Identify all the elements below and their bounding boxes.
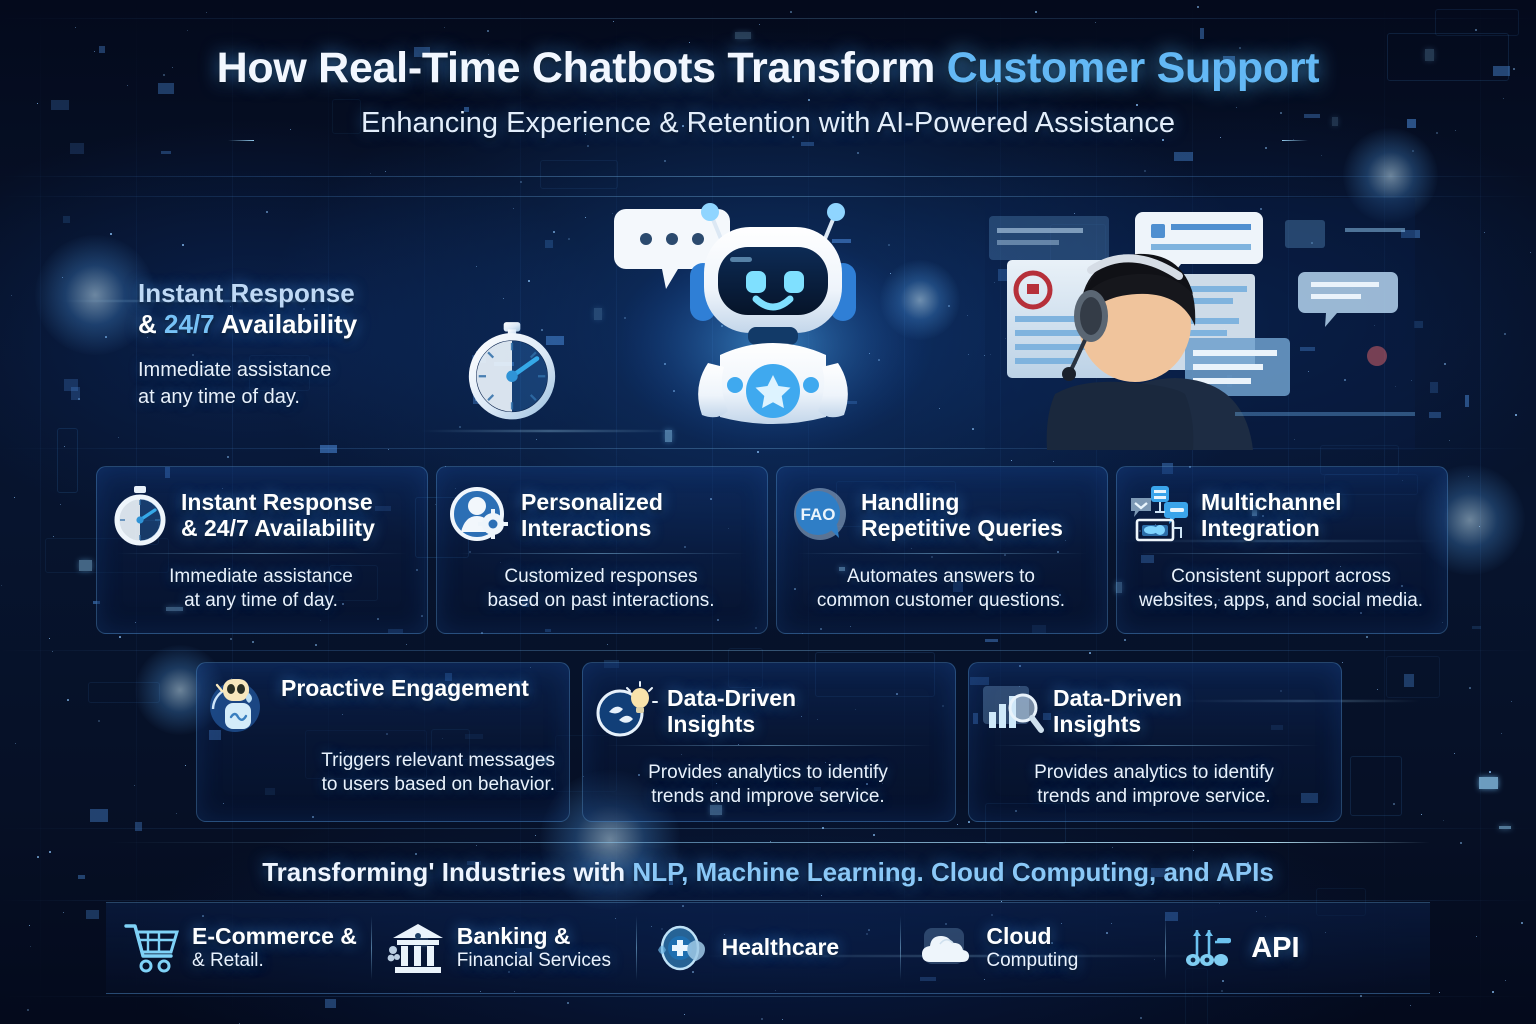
card-header: FAO Handling Repetitive Queries: [789, 479, 1093, 551]
card-title-line1: Proactive Engagement: [281, 675, 529, 701]
card-title: Instant Response & 24/7 Availability: [181, 489, 375, 542]
card-header: Personalized Interactions: [449, 479, 753, 551]
industry-label: API: [1251, 932, 1299, 964]
chatbot-robot-mascot: [608, 195, 938, 450]
hero-title-line1: Instant Response: [138, 278, 355, 308]
card-title: Data-Driven Insights: [667, 685, 796, 738]
card-title-line2: Insights: [1053, 711, 1141, 737]
industry-item-cloud[interactable]: Cloud Computing: [900, 903, 1165, 993]
industry-label-line1: Banking &: [457, 923, 571, 949]
card-header: Data-Driven Insights: [595, 675, 941, 747]
title-main: How Real-Time Chatbots Transform: [217, 44, 947, 92]
card-desc-line2: to users based on behavior.: [322, 774, 555, 795]
card-desc-line1: Immediate assistance: [169, 566, 353, 587]
header: How Real-Time Chatbots Transform Custome…: [0, 44, 1536, 140]
healthcare-shield-icon: [654, 920, 712, 976]
card-header: Instant Response & 24/7 Availability: [109, 479, 413, 551]
card-title: Proactive Engagement: [281, 675, 529, 701]
card-title-line2: Repetitive Queries: [861, 515, 1063, 541]
stopwatch-icon: [109, 484, 171, 546]
card-header: Data-Driven Insights: [981, 675, 1327, 747]
multichannel-devices-icon: [1129, 484, 1191, 546]
hero-description: Immediate assistance at any time of day.: [138, 357, 438, 410]
faq-bubble-icon: FAO: [789, 484, 851, 546]
chart-magnifier-icon: [981, 680, 1043, 742]
hero-title-number: 24/7: [164, 309, 215, 339]
feature-card-proactive-engagement[interactable]: Proactive Engagement Triggers relevant m…: [196, 662, 570, 822]
banner-text: Transforming' Industries with NLP, Machi…: [262, 857, 1274, 888]
card-title: Multichannel Integration: [1201, 489, 1342, 542]
card-title-line2: Integration: [1201, 515, 1320, 541]
faq-badge-text: FAO: [801, 505, 836, 524]
hero-highlight: Instant Response & 24/7 Availability Imm…: [138, 278, 438, 410]
card-desc-line1: Customized responses: [504, 566, 697, 587]
feature-row-1: Instant Response & 24/7 Availability Imm…: [96, 466, 1448, 634]
industry-label: Cloud Computing: [986, 924, 1078, 971]
card-desc-line2: trends and improve service.: [1037, 786, 1270, 807]
industry-item-healthcare[interactable]: Healthcare: [636, 903, 901, 993]
api-nodes-icon: [1183, 920, 1241, 976]
user-gear-icon: [449, 484, 511, 546]
industries-strip: E-Commerce & & Retail.: [106, 902, 1430, 994]
card-title-line1: Handling: [861, 489, 959, 515]
industry-label: Banking & Financial Services: [457, 924, 611, 971]
stopwatch-icon: [460, 318, 564, 422]
card-description: Immediate assistance at any time of day.: [109, 565, 413, 614]
cloud-icon: [918, 920, 976, 976]
card-desc-line2: based on past interactions.: [487, 590, 714, 611]
subtitle-tick-right: [1282, 140, 1308, 141]
industry-label-line1: E-Commerce &: [192, 923, 357, 949]
feature-card-personalized-interactions[interactable]: Personalized Interactions Customized res…: [436, 466, 768, 634]
infographic-canvas: How Real-Time Chatbots Transform Custome…: [0, 0, 1536, 1024]
bank-building-icon: [389, 920, 447, 976]
industry-item-banking[interactable]: Banking & Financial Services: [371, 903, 636, 993]
feature-card-multichannel-integration[interactable]: Multichannel Integration Consistent supp…: [1116, 466, 1448, 634]
card-desc-line1: Provides analytics to identify: [1034, 762, 1274, 783]
feature-card-instant-response[interactable]: Instant Response & 24/7 Availability Imm…: [96, 466, 428, 634]
card-desc-line1: Automates answers to: [847, 566, 1035, 587]
card-desc-line2: websites, apps, and social media.: [1139, 590, 1423, 611]
feature-card-data-driven-insights-1[interactable]: Data-Driven Insights Provides analytics …: [582, 662, 956, 822]
card-description: Provides analytics to identify trends an…: [595, 761, 941, 810]
card-description: Consistent support across websites, apps…: [1129, 565, 1433, 614]
industry-label: Healthcare: [722, 935, 840, 961]
industry-label-line2: Financial Services: [457, 950, 611, 971]
support-agent-workstation: [985, 198, 1415, 450]
card-description: Automates answers to common customer que…: [789, 565, 1093, 614]
card-title-line2: & 24/7 Availability: [181, 515, 375, 541]
feature-row-2: Proactive Engagement Triggers relevant m…: [196, 662, 1342, 822]
page-title: How Real-Time Chatbots Transform Custome…: [0, 44, 1536, 93]
feature-card-data-driven-insights-2[interactable]: Data-Driven Insights Provides analytics …: [968, 662, 1342, 822]
card-desc-line1: Triggers relevant messages: [321, 750, 555, 771]
industry-label-line2: Computing: [986, 950, 1078, 971]
card-title: Data-Driven Insights: [1053, 685, 1182, 738]
card-description: Triggers relevant messages to users base…: [209, 749, 555, 798]
card-desc-line2: at any time of day.: [184, 590, 338, 611]
industry-item-ecommerce[interactable]: E-Commerce & & Retail.: [106, 903, 371, 993]
industry-item-api[interactable]: API: [1165, 903, 1430, 993]
lightbulb-insight-icon: [595, 680, 657, 742]
card-title-line1: Data-Driven: [1053, 685, 1182, 711]
card-title-line1: Data-Driven: [667, 685, 796, 711]
card-description: Provides analytics to identify trends an…: [981, 761, 1327, 810]
hero-title-line2-pre: &: [138, 309, 164, 339]
subtitle-tick-left: [228, 140, 254, 141]
card-title-line2: Insights: [667, 711, 755, 737]
banner-prefix: Transforming' Industries with: [262, 857, 632, 887]
feature-card-repetitive-queries[interactable]: FAO Handling Repetitive Queries Automate…: [776, 466, 1108, 634]
card-title: Personalized Interactions: [521, 489, 663, 542]
shopping-cart-icon: [124, 920, 182, 976]
hero-desc-line2: at any time of day.: [138, 386, 300, 408]
card-header: Multichannel Integration: [1129, 479, 1433, 551]
technologies-banner: Transforming' Industries with NLP, Machi…: [0, 848, 1536, 896]
hero-title-line2-post: Availability: [215, 309, 358, 339]
card-title-line1: Multichannel: [1201, 489, 1342, 515]
card-desc-line2: common customer questions.: [817, 590, 1065, 611]
card-title-line1: Instant Response: [181, 489, 373, 515]
card-desc-line1: Consistent support across: [1171, 566, 1391, 587]
title-accent: Customer Support: [947, 44, 1320, 92]
card-desc-line2: trends and improve service.: [651, 786, 884, 807]
proactive-bot-icon: [209, 675, 271, 737]
industry-label-line1: Cloud: [986, 923, 1051, 949]
card-desc-line1: Provides analytics to identify: [648, 762, 888, 783]
banner-divider: [106, 842, 1430, 843]
industry-label-line1: Healthcare: [722, 934, 840, 960]
card-header: Proactive Engagement: [209, 675, 555, 747]
industry-label: E-Commerce & & Retail.: [192, 924, 357, 971]
hero-title: Instant Response & 24/7 Availability: [138, 278, 438, 339]
page-subtitle: Enhancing Experience & Retention with AI…: [0, 107, 1536, 140]
card-title-line1: Personalized: [521, 489, 663, 515]
card-title: Handling Repetitive Queries: [861, 489, 1063, 542]
industry-label-line2: & Retail.: [192, 950, 357, 971]
hero-desc-line1: Immediate assistance: [138, 359, 331, 381]
card-title-line2: Interactions: [521, 515, 651, 541]
banner-technologies: NLP, Machine Learning. Cloud Computing, …: [632, 857, 1273, 887]
industry-label-line1: API: [1251, 932, 1299, 964]
card-description: Customized responses based on past inter…: [449, 565, 753, 614]
